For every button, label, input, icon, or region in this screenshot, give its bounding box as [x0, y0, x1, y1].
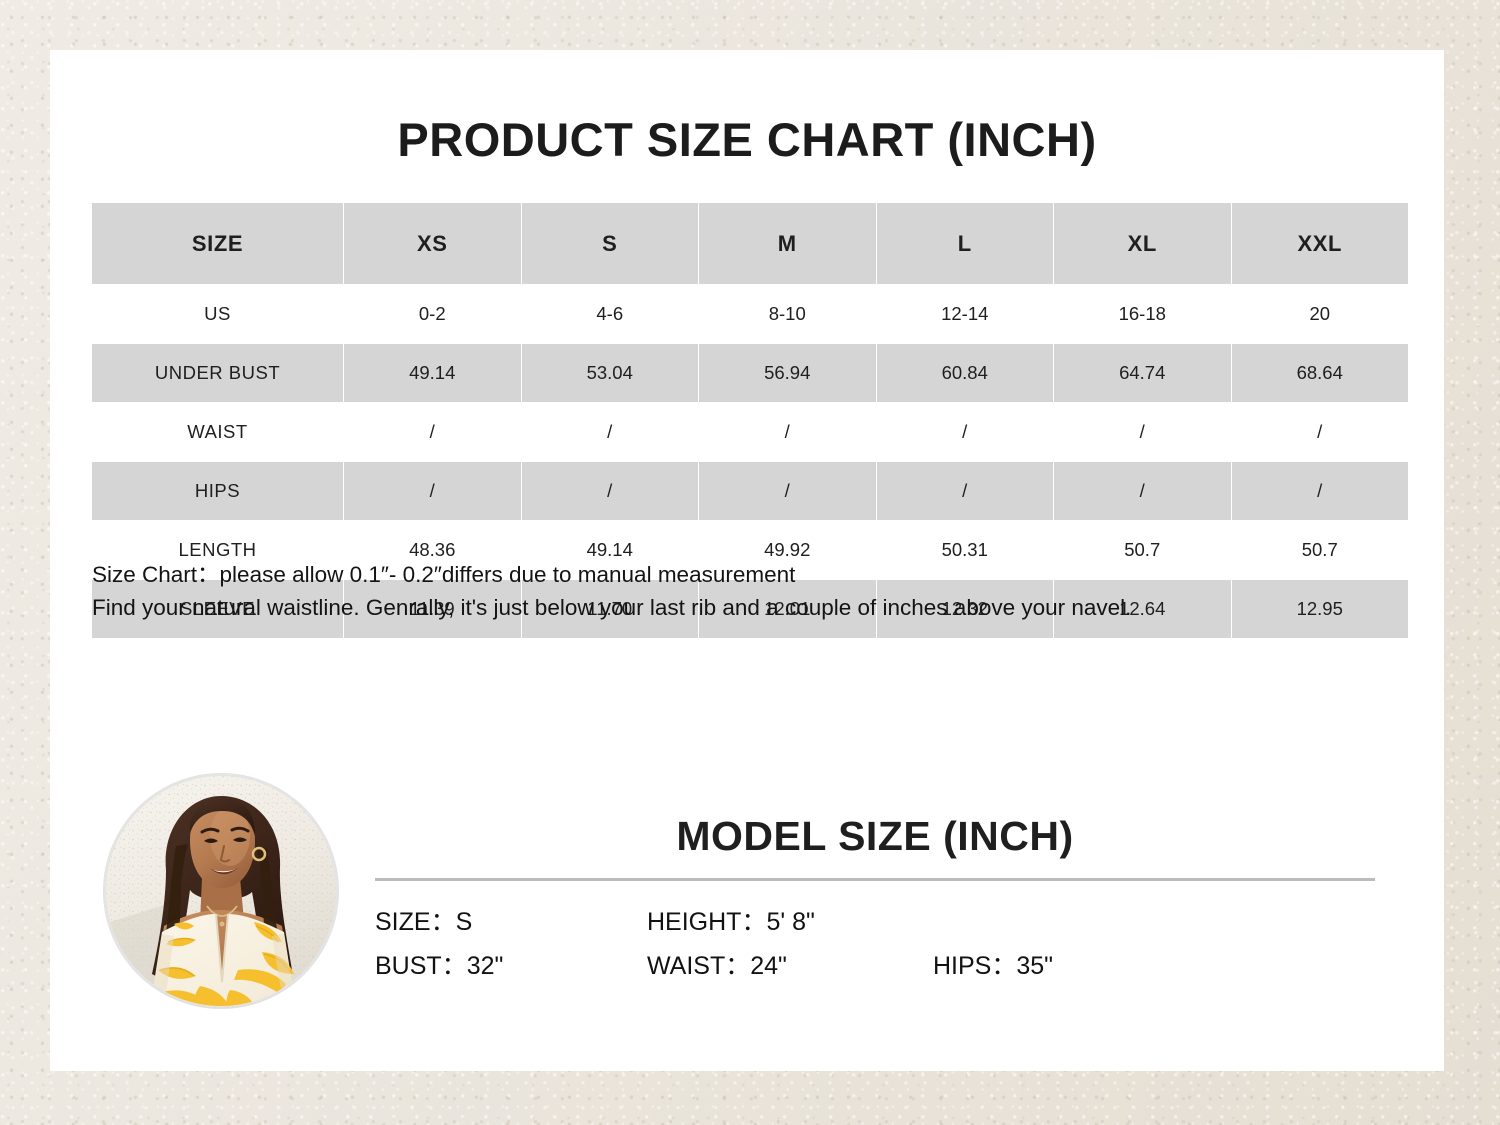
model-specs: SIZE：S HEIGHT：5' 8" BUST：32" WAIST：24" H… [375, 902, 1415, 990]
cell-under-bust-m: 56.94 [699, 344, 877, 403]
table-row: UNDER BUST 49.14 53.04 56.94 60.84 64.74… [92, 344, 1409, 403]
row-label-hips: HIPS [92, 462, 344, 521]
row-label-waist: WAIST [92, 403, 344, 462]
row-label-us: US [92, 285, 344, 344]
cell-hips-xs: / [344, 462, 522, 521]
column-header-l: L [876, 203, 1054, 285]
model-spec-height-label: HEIGHT： [647, 908, 766, 936]
model-spec-waist-value: 24" [750, 952, 787, 980]
model-spec-bust: BUST：32" [375, 946, 503, 982]
cell-hips-xl: / [1054, 462, 1232, 521]
cell-us-s: 4-6 [521, 285, 699, 344]
note-line-waistline: Find your natural waistline. Genrally, i… [92, 591, 1412, 624]
model-section-divider [375, 878, 1375, 881]
model-spec-hips-value: 35" [1016, 952, 1053, 980]
model-spec-height: HEIGHT：5' 8" [647, 902, 815, 938]
cell-waist-xxl: / [1231, 403, 1409, 462]
cell-waist-s: / [521, 403, 699, 462]
model-spec-waist: WAIST：24" [647, 946, 787, 982]
cell-under-bust-xxl: 68.64 [1231, 344, 1409, 403]
model-spec-size-label: SIZE： [375, 908, 456, 936]
cell-under-bust-s: 53.04 [521, 344, 699, 403]
cell-hips-m: / [699, 462, 877, 521]
column-header-size: SIZE [92, 203, 344, 285]
model-spec-height-value: 5' 8" [766, 908, 814, 936]
cell-hips-l: / [876, 462, 1054, 521]
model-spec-row-1: SIZE：S HEIGHT：5' 8" [375, 902, 1415, 946]
cell-us-l: 12-14 [876, 285, 1054, 344]
model-photo [104, 774, 338, 1008]
measurement-notes: Size Chart：please allow 0.1″- 0.2″differ… [92, 558, 1412, 624]
cell-us-m: 8-10 [699, 285, 877, 344]
column-header-s: S [521, 203, 699, 285]
table-row: US 0-2 4-6 8-10 12-14 16-18 20 [92, 285, 1409, 344]
model-spec-hips: HIPS：35" [933, 946, 1053, 982]
model-spec-size: SIZE：S [375, 902, 472, 938]
column-header-xl: XL [1054, 203, 1232, 285]
cell-us-xl: 16-18 [1054, 285, 1232, 344]
model-spec-waist-label: WAIST： [647, 952, 750, 980]
column-header-xs: XS [344, 203, 522, 285]
note-line-tolerance: Size Chart：please allow 0.1″- 0.2″differ… [92, 558, 1412, 591]
cell-under-bust-xs: 49.14 [344, 344, 522, 403]
cell-waist-m: / [699, 403, 877, 462]
cell-us-xxl: 20 [1231, 285, 1409, 344]
model-spec-bust-label: BUST： [375, 952, 467, 980]
table-row: HIPS / / / / / / [92, 462, 1409, 521]
model-spec-size-value: S [456, 908, 473, 936]
column-header-m: M [699, 203, 877, 285]
model-size-title: MODEL SIZE (INCH) [375, 813, 1375, 860]
cell-waist-l: / [876, 403, 1054, 462]
column-header-xxl: XXL [1231, 203, 1409, 285]
cell-under-bust-l: 60.84 [876, 344, 1054, 403]
cell-under-bust-xl: 64.74 [1054, 344, 1232, 403]
model-spec-hips-label: HIPS： [933, 952, 1016, 980]
cell-hips-s: / [521, 462, 699, 521]
size-chart-card: PRODUCT SIZE CHART (INCH) SIZE XS S M L … [50, 50, 1444, 1071]
cell-waist-xl: / [1054, 403, 1232, 462]
model-spec-row-2: BUST：32" WAIST：24" HIPS：35" [375, 946, 1415, 990]
cell-hips-xxl: / [1231, 462, 1409, 521]
page-title: PRODUCT SIZE CHART (INCH) [50, 112, 1444, 167]
table-header-row: SIZE XS S M L XL XXL [92, 203, 1409, 285]
model-photo-illustration [104, 774, 338, 1008]
table-row: WAIST / / / / / / [92, 403, 1409, 462]
row-label-under-bust: UNDER BUST [92, 344, 344, 403]
model-spec-bust-value: 32" [467, 952, 504, 980]
cell-waist-xs: / [344, 403, 522, 462]
cell-us-xs: 0-2 [344, 285, 522, 344]
